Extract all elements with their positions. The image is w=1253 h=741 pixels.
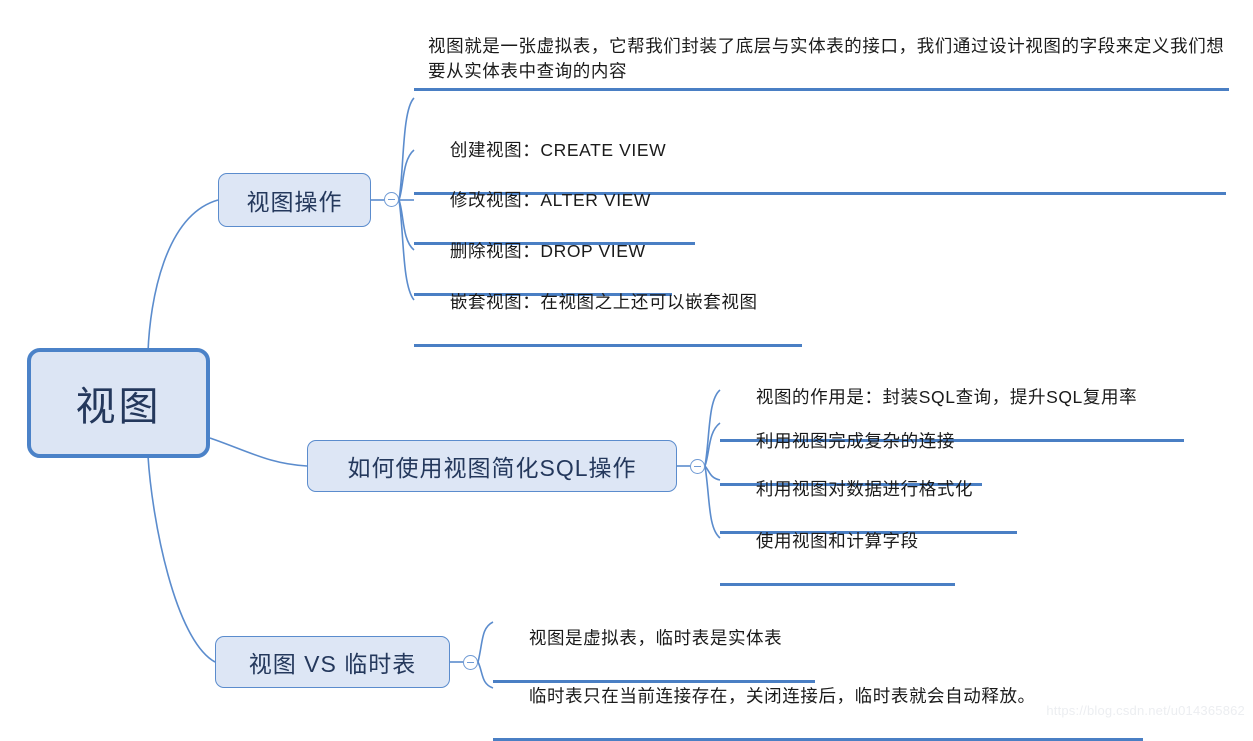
leaf-text: 嵌套视图：在视图之上还可以嵌套视图 xyxy=(450,292,758,312)
edge-branch-2-leaf-0 xyxy=(705,390,720,466)
leaf-text: 创建视图：CREATE VIEW xyxy=(450,140,666,160)
edge-branch-3-leaf-1 xyxy=(478,662,493,688)
branch-node-simplify-sql[interactable]: 如何使用视图简化SQL操作 xyxy=(307,440,677,492)
edge-branch-1-leaf-0 xyxy=(399,98,414,200)
leaf-text: 利用视图完成复杂的连接 xyxy=(756,431,955,451)
edge-root-to-branch-2 xyxy=(210,438,307,466)
branch-node-label: 视图操作 xyxy=(247,183,343,217)
root-node[interactable]: 视图 xyxy=(27,348,210,458)
leaf-nested-view[interactable]: 嵌套视图：在视图之上还可以嵌套视图 xyxy=(414,265,802,347)
collapse-toggle-branch-2[interactable] xyxy=(690,459,705,474)
leaf-text: 删除视图：DROP VIEW xyxy=(450,241,646,261)
mindmap-canvas: 视图 视图操作 视图就是一张虚拟表，它帮我们封装了底层与实体表的接口，我们通过设… xyxy=(0,0,1253,722)
edge-branch-2-leaf-3 xyxy=(705,466,720,538)
edge-branch-1-leaf-1 xyxy=(399,150,414,200)
leaf-calculated-fields[interactable]: 使用视图和计算字段 xyxy=(720,504,955,586)
leaf-text: 使用视图和计算字段 xyxy=(756,531,919,551)
branch-node-label: 如何使用视图简化SQL操作 xyxy=(347,449,636,483)
edge-root-to-branch-3 xyxy=(148,456,215,662)
branch-node-label: 视图 VS 临时表 xyxy=(249,645,416,679)
collapse-toggle-branch-3[interactable] xyxy=(463,655,478,670)
leaf-text: 视图就是一张虚拟表，它帮我们封装了底层与实体表的接口，我们通过设计视图的字段来定… xyxy=(428,36,1224,81)
leaf-text: 修改视图：ALTER VIEW xyxy=(450,190,651,210)
root-node-label: 视图 xyxy=(76,374,162,432)
leaf-temp-table-lifetime[interactable]: 临时表只在当前连接存在，关闭连接后，临时表就会自动释放。 xyxy=(493,659,1143,741)
edge-branch-3-leaf-0 xyxy=(478,622,493,662)
leaf-text: 利用视图对数据进行格式化 xyxy=(756,479,973,499)
branch-node-view-vs-temp-table[interactable]: 视图 VS 临时表 xyxy=(215,636,450,688)
leaf-text: 临时表只在当前连接存在，关闭连接后，临时表就会自动释放。 xyxy=(529,686,1036,706)
leaf-view-definition[interactable]: 视图就是一张虚拟表，它帮我们封装了底层与实体表的接口，我们通过设计视图的字段来定… xyxy=(414,34,1229,91)
branch-node-view-operations[interactable]: 视图操作 xyxy=(218,173,371,227)
edge-root-to-branch-1 xyxy=(148,200,218,352)
collapse-toggle-branch-1[interactable] xyxy=(384,192,399,207)
leaf-text: 视图是虚拟表，临时表是实体表 xyxy=(529,628,782,648)
edge-branch-1-leaf-3 xyxy=(399,200,414,250)
watermark: https://blog.csdn.net/u014365862 xyxy=(1046,703,1245,718)
edge-branch-2-leaf-1 xyxy=(705,423,720,466)
edge-branch-2-leaf-2 xyxy=(705,466,720,480)
edge-branch-1-leaf-4 xyxy=(399,200,414,300)
